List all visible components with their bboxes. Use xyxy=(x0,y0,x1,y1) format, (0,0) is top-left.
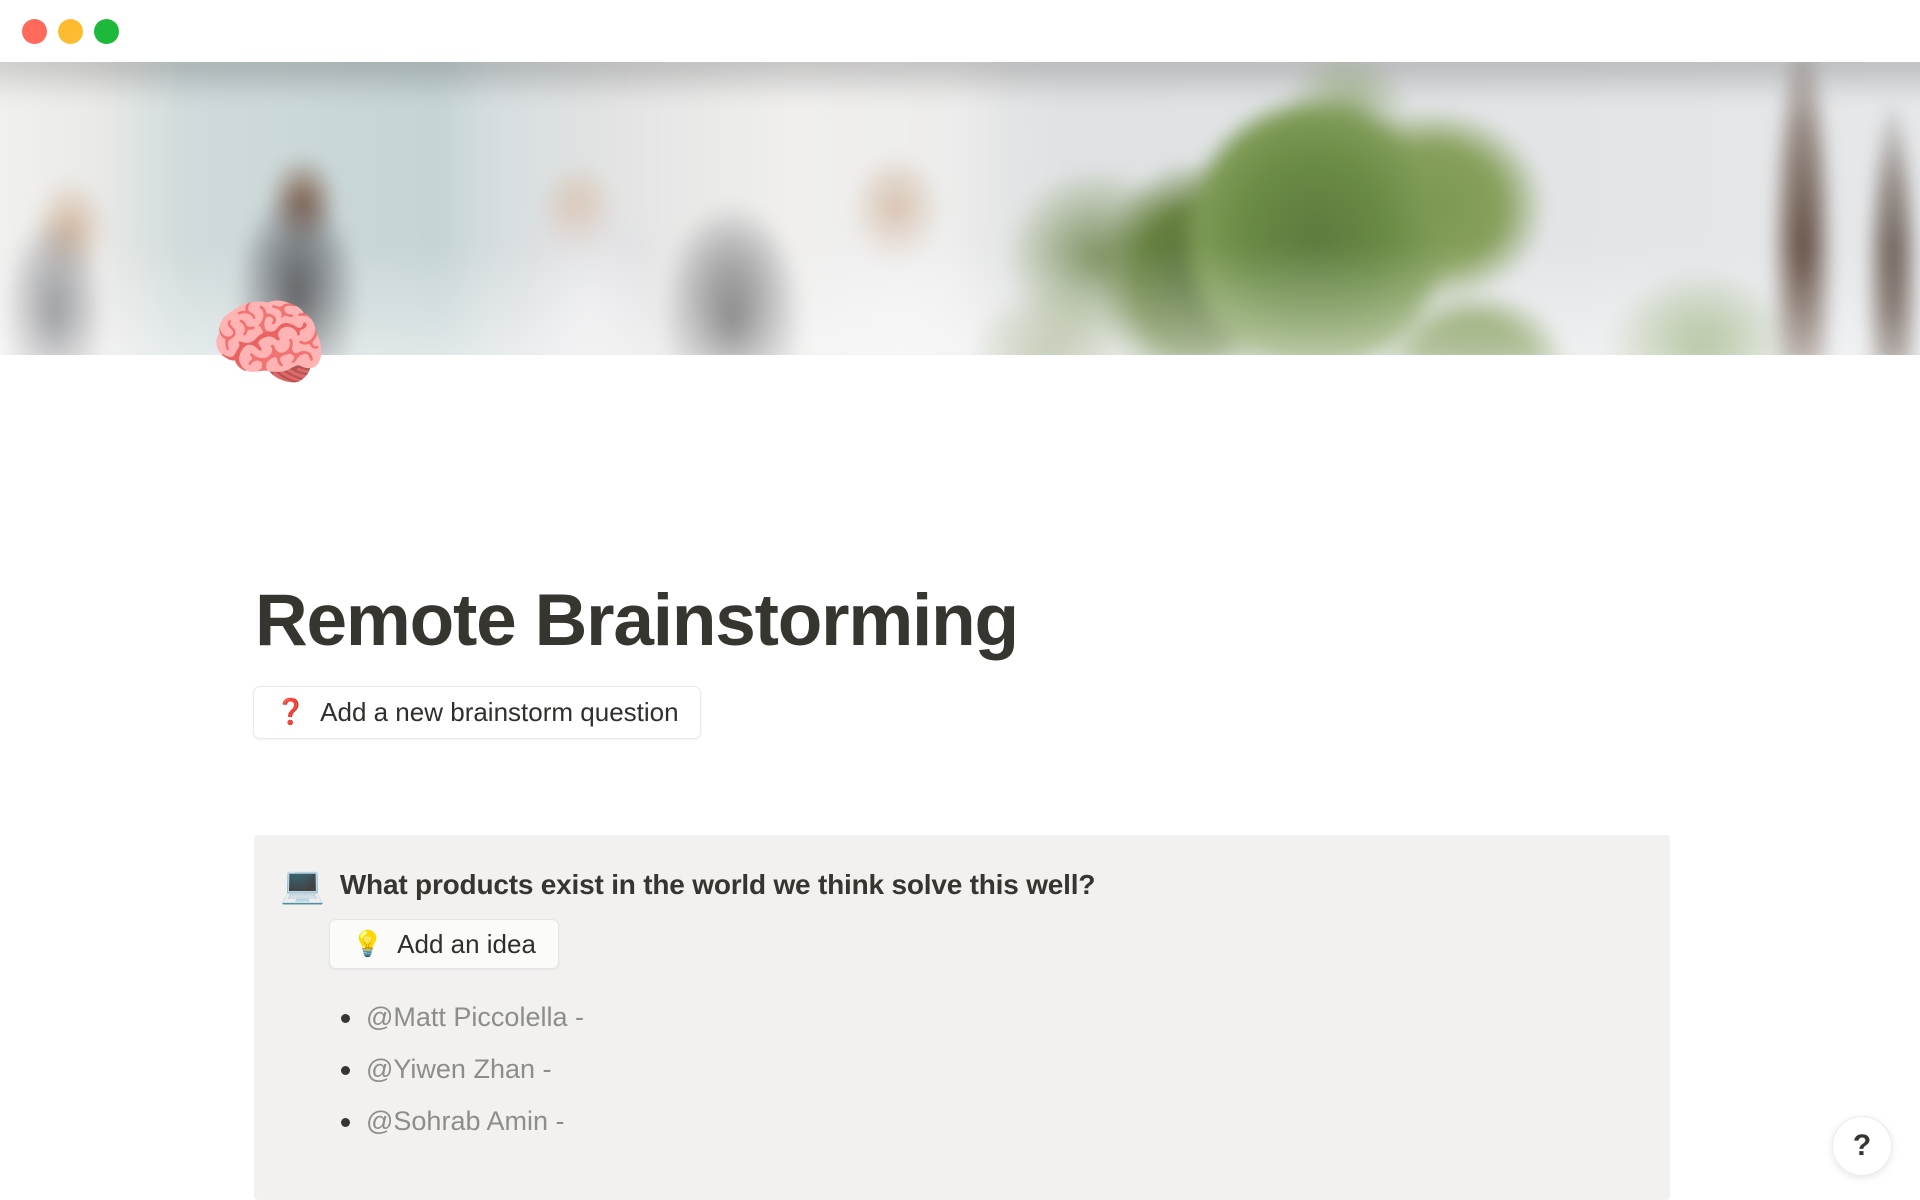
help-button[interactable]: ? xyxy=(1832,1116,1892,1176)
add-brainstorm-question-label: Add a new brainstorm question xyxy=(320,697,678,728)
list-item[interactable]: @Matt Piccolella - xyxy=(366,991,1670,1043)
question-card: 💻 What products exist in the world we th… xyxy=(254,835,1670,1200)
thought-balloon-question-icon: ❓ xyxy=(275,700,306,725)
mention-chip[interactable]: @Sohrab Amin xyxy=(366,1106,548,1136)
question-text[interactable]: What products exist in the world we thin… xyxy=(340,869,1095,901)
mention-chip[interactable]: @Yiwen Zhan xyxy=(366,1054,535,1084)
window-titlebar xyxy=(0,0,1920,62)
close-button[interactable] xyxy=(22,19,47,44)
page-title[interactable]: Remote Brainstorming xyxy=(255,579,1018,662)
mention-chip[interactable]: @Matt Piccolella xyxy=(366,1002,567,1032)
page-content: Remote Brainstorming ❓ Add a new brainst… xyxy=(0,355,1920,1200)
list-item[interactable]: @Sohrab Amin - xyxy=(366,1095,1670,1147)
maximize-button[interactable] xyxy=(94,19,119,44)
question-mark-icon: ? xyxy=(1853,1129,1871,1163)
question-header: 💻 What products exist in the world we th… xyxy=(254,867,1670,903)
brain-emoji-icon[interactable]: 🧠 xyxy=(209,296,329,392)
add-brainstorm-question-button[interactable]: ❓ Add a new brainstorm question xyxy=(253,686,701,739)
idea-separator: - xyxy=(556,1106,565,1136)
idea-list: @Matt Piccolella - @Yiwen Zhan - @Sohrab… xyxy=(254,991,1670,1147)
minimize-button[interactable] xyxy=(58,19,83,44)
idea-separator: - xyxy=(543,1054,552,1084)
add-idea-button[interactable]: 💡 Add an idea xyxy=(329,919,559,969)
add-idea-label: Add an idea xyxy=(397,929,536,960)
list-item[interactable]: @Yiwen Zhan - xyxy=(366,1043,1670,1095)
idea-separator: - xyxy=(575,1002,584,1032)
laptop-icon: 💻 xyxy=(280,867,325,903)
light-bulb-icon: 💡 xyxy=(352,932,383,957)
